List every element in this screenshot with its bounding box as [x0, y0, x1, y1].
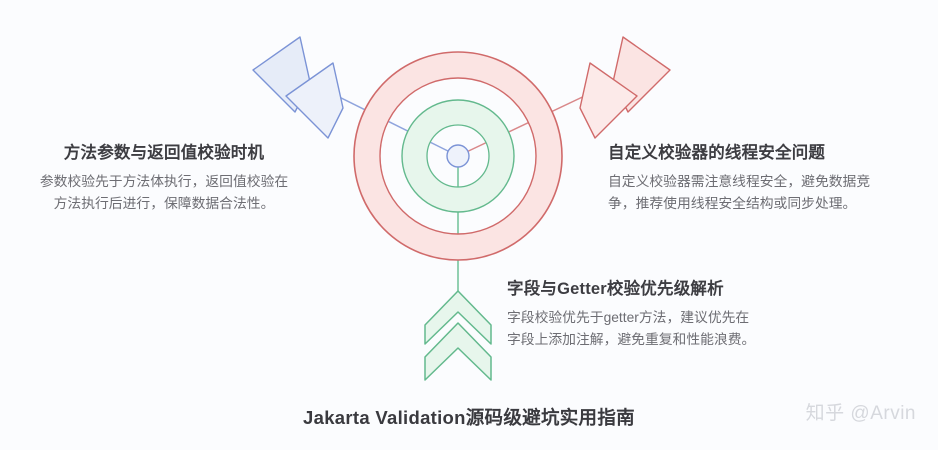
- page-title: Jakarta Validation源码级避坑实用指南: [0, 404, 938, 430]
- callout-bottom-body: 字段校验优先于getter方法，建议优先在 字段上添加注解，避免重复和性能浪费。: [507, 307, 837, 352]
- watermark: 知乎 @Arvin: [806, 398, 916, 425]
- callout-bottom-body-line-2: 字段上添加注解，避免重复和性能浪费。: [507, 329, 837, 351]
- target-and-arrows-graphic: [0, 0, 938, 450]
- callout-left: 方法参数与返回值校验时机 参数校验先于方法体执行，返回值校验在 方法执行后进行，…: [8, 142, 320, 216]
- arrow-blue-upper-left: [253, 37, 343, 138]
- callout-bottom: 字段与Getter校验优先级解析 字段校验优先于getter方法，建议优先在 字…: [507, 278, 837, 352]
- infographic-canvas: 方法参数与返回值校验时机 参数校验先于方法体执行，返回值校验在 方法执行后进行，…: [0, 0, 938, 450]
- callout-right-headline: 自定义校验器的线程安全问题: [608, 142, 938, 166]
- callout-left-body: 参数校验先于方法体执行，返回值校验在 方法执行后进行，保障数据合法性。: [8, 171, 320, 216]
- callout-bottom-body-line-1: 字段校验优先于getter方法，建议优先在: [507, 307, 837, 329]
- arrow-green-bottom: [425, 291, 491, 380]
- callout-left-headline: 方法参数与返回值校验时机: [8, 142, 320, 166]
- callout-right: 自定义校验器的线程安全问题 自定义校验器需注意线程安全，避免数据竞 争，推荐使用…: [608, 142, 938, 216]
- callout-right-body-line-1: 自定义校验器需注意线程安全，避免数据竞: [608, 171, 938, 193]
- arrow-red-upper-right: [580, 37, 670, 138]
- callout-right-body: 自定义校验器需注意线程安全，避免数据竞 争，推荐使用线程安全结构或同步处理。: [608, 171, 938, 216]
- callout-bottom-headline: 字段与Getter校验优先级解析: [507, 278, 837, 302]
- callout-left-body-line-1: 参数校验先于方法体执行，返回值校验在: [8, 171, 320, 193]
- callout-left-body-line-2: 方法执行后进行，保障数据合法性。: [8, 193, 320, 215]
- callout-right-body-line-2: 争，推荐使用线程安全结构或同步处理。: [608, 193, 938, 215]
- center-blue-circle: [447, 145, 469, 167]
